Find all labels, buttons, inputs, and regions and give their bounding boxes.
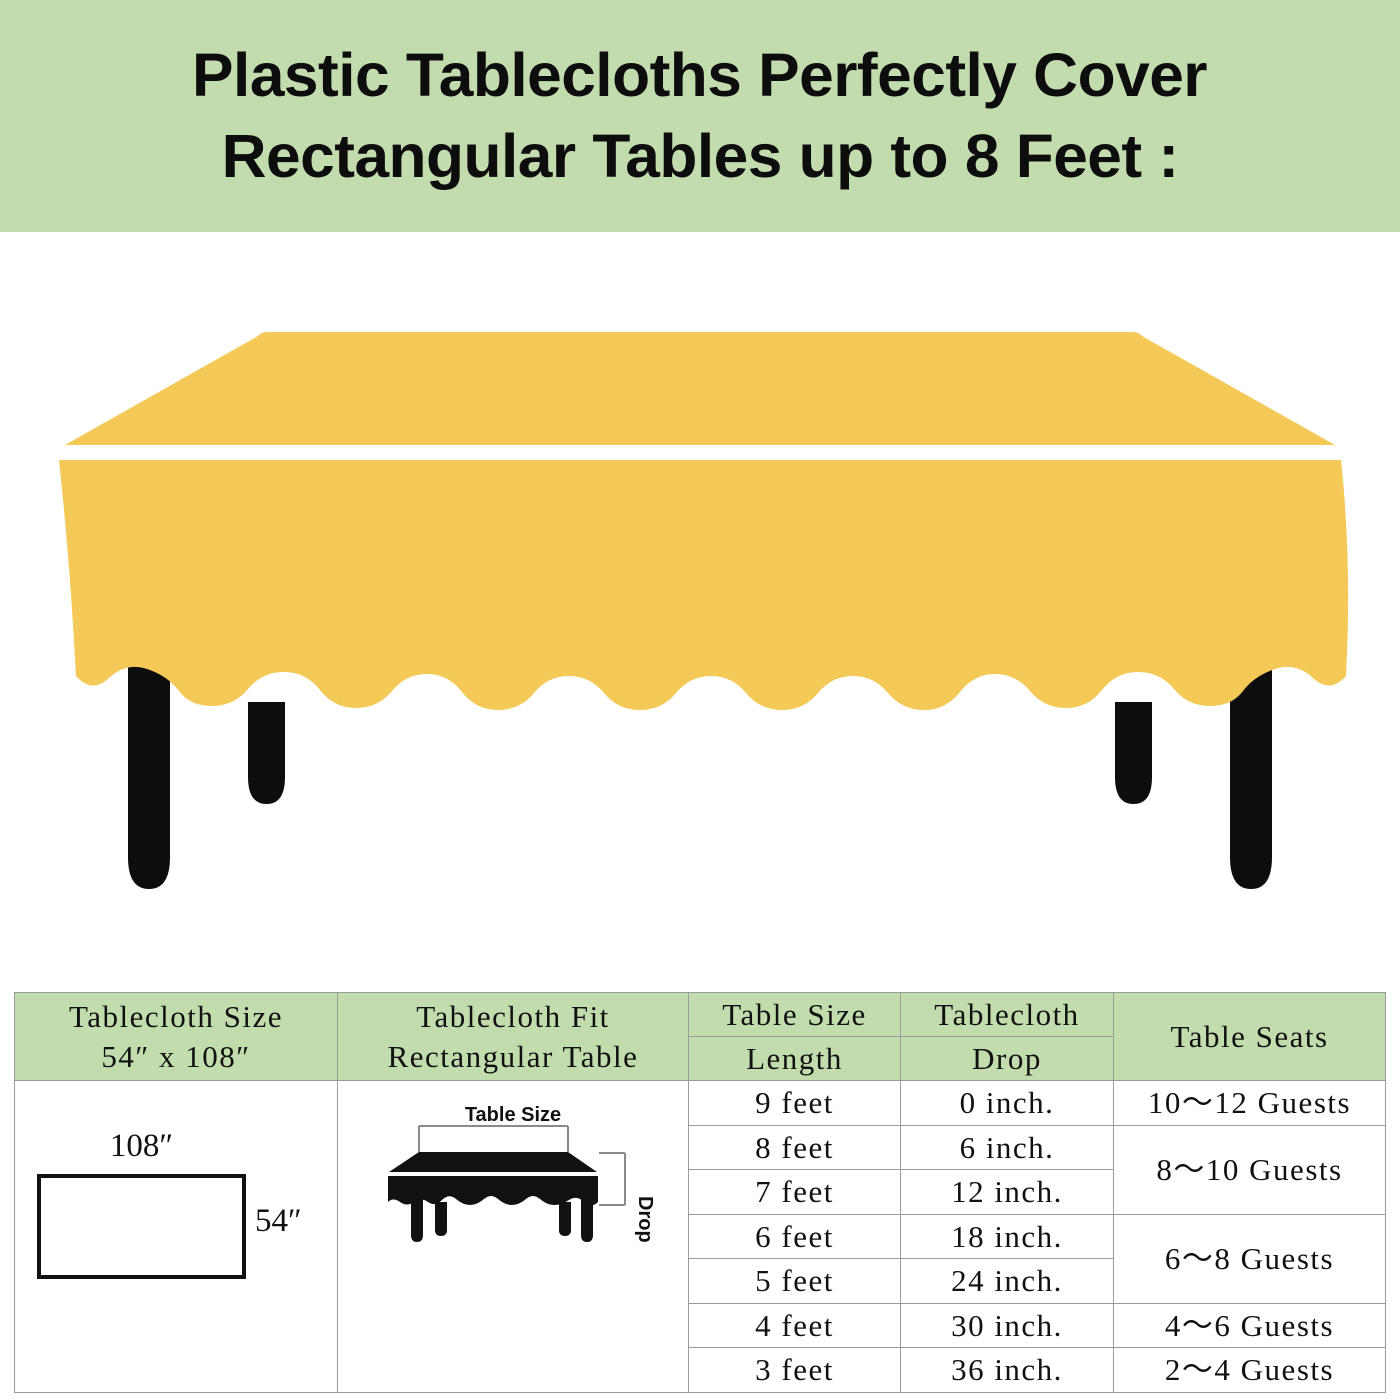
table-header: Tablecloth Size 54″ x 108″ Tablecloth Fi…	[15, 993, 1386, 1081]
infographic-page: Plastic Tablecloths Perfectly Cover Rect…	[0, 0, 1400, 1400]
cell-drop: 6 inch.	[901, 1125, 1114, 1170]
cell-drop: 0 inch.	[901, 1081, 1114, 1126]
cell-seats: 2～4 Guests	[1114, 1348, 1386, 1393]
cell-table-size: 9 feet	[689, 1081, 901, 1126]
cell-drop: 30 inch.	[901, 1303, 1114, 1348]
cell-seats: 8～10 Guests	[1114, 1125, 1386, 1214]
cell-table-size: 4 feet	[689, 1303, 901, 1348]
cloth-dimension-diagram-cell: 108″ 54″	[15, 1081, 338, 1393]
table-legs	[128, 662, 1272, 889]
silhouette-top	[389, 1152, 597, 1172]
banner-title-line-1: Plastic Tablecloths Perfectly Cover	[193, 35, 1208, 116]
header-tablecloth-fit: Tablecloth Fit Rectangular Table	[338, 993, 689, 1081]
table-fit-diagram: Table Size Drop	[338, 1084, 688, 1389]
cell-drop: 36 inch.	[901, 1348, 1114, 1393]
leg-front-left	[128, 662, 170, 889]
header-tablecloth-size-line1: Tablecloth Size	[15, 997, 337, 1037]
header-row: Tablecloth Size 54″ x 108″ Tablecloth Fi…	[15, 993, 1386, 1037]
cell-drop: 12 inch.	[901, 1170, 1114, 1215]
cell-seats: 4～6 Guests	[1114, 1303, 1386, 1348]
header-tablecloth-drop: Tablecloth	[901, 993, 1114, 1037]
banner-title-line-2: Rectangular Tables up to 8 Feet :	[222, 116, 1179, 197]
header-tablecloth-size: Tablecloth Size 54″ x 108″	[15, 993, 338, 1081]
header-banner: Plastic Tablecloths Perfectly Cover Rect…	[0, 0, 1400, 232]
cell-table-size: 7 feet	[689, 1170, 901, 1215]
cloth-height-label: 54″	[255, 1199, 302, 1243]
table-silhouette-svg	[363, 1090, 663, 1290]
table-size-bracket	[419, 1126, 568, 1152]
specification-table: Tablecloth Size 54″ x 108″ Tablecloth Fi…	[14, 992, 1386, 1393]
header-table-size-length: Length	[689, 1037, 901, 1081]
header-tablecloth-fit-line2: Rectangular Table	[338, 1037, 688, 1077]
cell-seats: 10～12 Guests	[1114, 1081, 1386, 1126]
cell-table-size: 3 feet	[689, 1348, 901, 1393]
cloth-rectangle-shape	[37, 1174, 246, 1279]
cell-drop: 24 inch.	[901, 1259, 1114, 1304]
cloth-dimension-diagram: 108″ 54″	[15, 1084, 337, 1389]
header-table-size: Table Size	[689, 993, 901, 1037]
cell-drop: 18 inch.	[901, 1214, 1114, 1259]
cell-seats: 6～8 Guests	[1114, 1214, 1386, 1303]
silhouette-legs	[411, 1198, 593, 1242]
header-tablecloth-fit-line1: Tablecloth Fit	[338, 997, 688, 1037]
cell-table-size: 5 feet	[689, 1259, 901, 1304]
table-body: 108″ 54″ Table Size Drop	[15, 1081, 1386, 1393]
header-table-seats: Table Seats	[1114, 993, 1386, 1081]
cell-table-size: 6 feet	[689, 1214, 901, 1259]
cell-table-size: 8 feet	[689, 1125, 901, 1170]
cloth-width-label: 108″	[37, 1124, 246, 1168]
leg-rear-left	[248, 702, 285, 804]
tablecloth-svg	[0, 232, 1400, 932]
hero-illustration	[0, 232, 1400, 932]
table-fit-diagram-cell: Table Size Drop	[338, 1081, 689, 1393]
drop-bracket	[599, 1153, 625, 1205]
leg-rear-right	[1115, 702, 1152, 804]
header-tablecloth-drop-unit: Drop	[901, 1037, 1114, 1081]
header-tablecloth-size-line2: 54″ x 108″	[15, 1037, 337, 1077]
cloth-skirt	[59, 460, 1348, 710]
table-row: 108″ 54″ Table Size Drop	[15, 1081, 1386, 1126]
cloth-top-surface	[65, 332, 1335, 445]
